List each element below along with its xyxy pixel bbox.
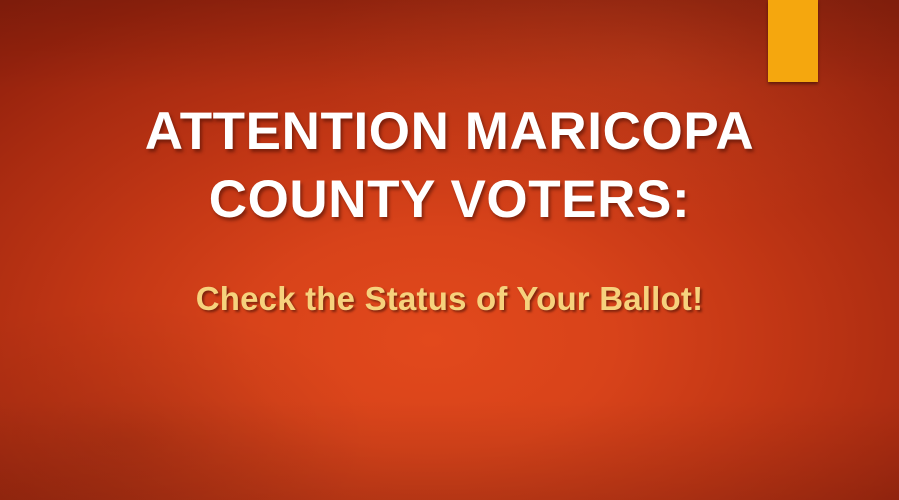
- presentation-slide: ATTENTION MARICOPA COUNTY VOTERS: Check …: [0, 0, 899, 500]
- amber-accent-bar: [768, 0, 818, 82]
- slide-title-line-2: COUNTY VOTERS:: [0, 166, 899, 234]
- background-vignette: [0, 0, 899, 500]
- slide-subtitle: Check the Status of Your Ballot!: [0, 278, 899, 321]
- slide-subtitle-text: Check the Status of Your Ballot!: [0, 278, 899, 321]
- slide-title: ATTENTION MARICOPA COUNTY VOTERS:: [0, 98, 899, 234]
- slide-title-line-1: ATTENTION MARICOPA: [0, 98, 899, 166]
